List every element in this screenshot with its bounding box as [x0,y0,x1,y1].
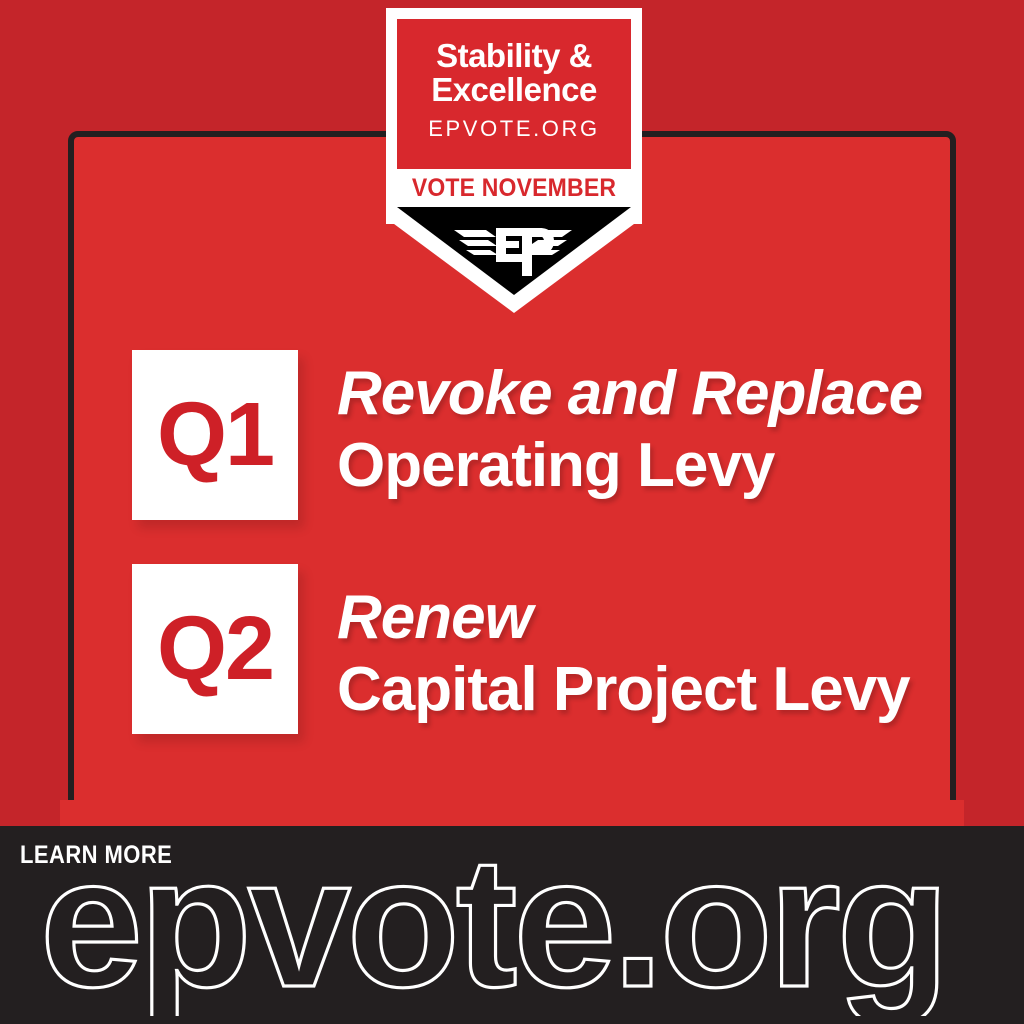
site-url-wordmark[interactable]: epvote.org [40,856,1000,1016]
badge-red-panel: Stability & Excellence EPVOTE.ORG [397,19,631,169]
question-badge-q1: Q1 [132,350,298,520]
poster-canvas: Stability & Excellence EPVOTE.ORG VOTE N… [0,0,1024,1024]
badge-title-line1: Stability & [436,37,592,74]
question-badge-q2: Q2 [132,564,298,734]
question-label-q2: Q2 [157,604,273,694]
campaign-badge: Stability & Excellence EPVOTE.ORG VOTE N… [386,8,642,313]
badge-vote-date: VOTE NOVEMBER 8 [406,171,621,205]
svg-text:epvote.org: epvote.org [40,856,946,1016]
badge-title-line2: Excellence [431,71,597,108]
winged-ep-logo-icon [452,220,574,280]
badge-title: Stability & Excellence [397,39,631,107]
question-q2-line1: Renew [337,582,1024,654]
question-text-q1: Revoke and Replace Operating Levy [337,358,1024,502]
question-q1-line2: Operating Levy [337,430,1024,502]
question-q2-line2: Capital Project Levy [337,654,1024,726]
badge-url[interactable]: EPVOTE.ORG [397,116,631,142]
footer-bar: LEARN MORE epvote.org [0,826,1024,1024]
question-q1-line1: Revoke and Replace [337,358,1024,430]
question-text-q2: Renew Capital Project Levy [337,582,1024,726]
question-label-q1: Q1 [157,390,273,480]
